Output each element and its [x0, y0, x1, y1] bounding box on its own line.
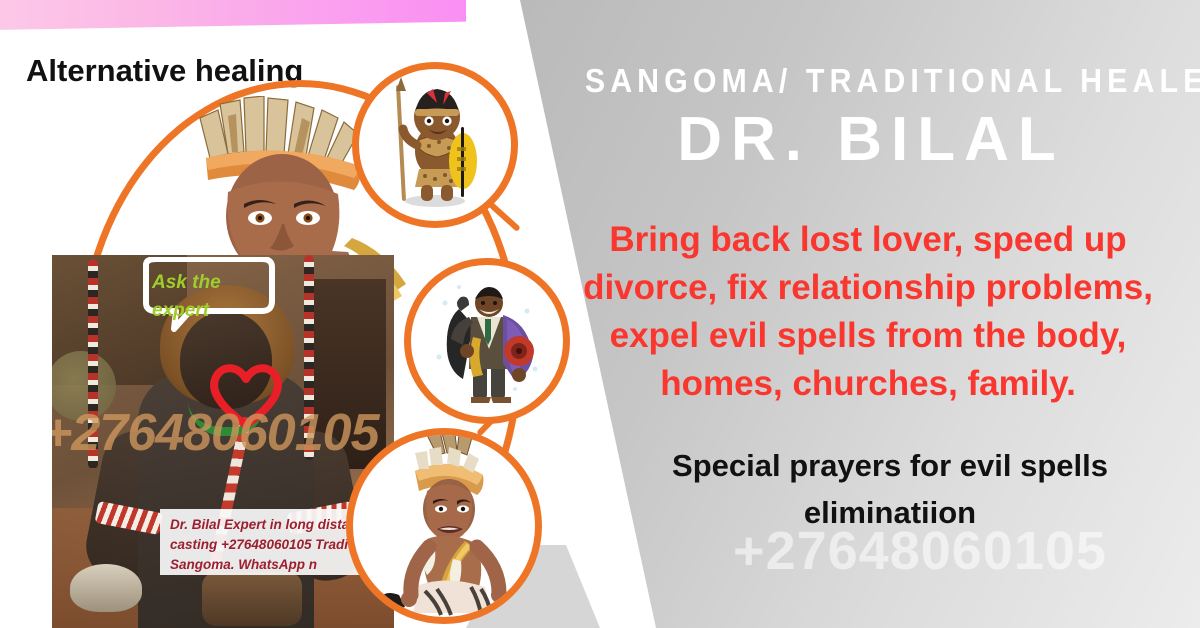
services-text: Bring back lost lover, speed up divorce,… — [548, 216, 1188, 408]
brand-title: DR. BILAL — [560, 104, 1182, 175]
bubble-crouching-dancer — [346, 428, 542, 624]
phone-watermark-right: +27648060105 — [640, 520, 1200, 582]
healer-photograph: Ask the expert +27648060105 Dr. Bilal Ex… — [52, 255, 394, 628]
top-pink-accent-bar — [0, 0, 466, 30]
bubble-zulu-warrior-cartoon — [352, 62, 518, 228]
photo-bowl — [70, 564, 142, 612]
photo-pot — [202, 572, 302, 626]
poster-canvas: SANGOMA/ TRADITIONAL HEALER DR. BILAL Br… — [0, 0, 1200, 628]
bubble-healer-with-cloak — [404, 258, 570, 424]
phone-watermark-photo: +27648060105 — [52, 403, 394, 463]
speech-bubble-text: Ask the expert — [152, 269, 272, 325]
kicker-text: SANGOMA/ TRADITIONAL HEALER — [585, 62, 1157, 100]
